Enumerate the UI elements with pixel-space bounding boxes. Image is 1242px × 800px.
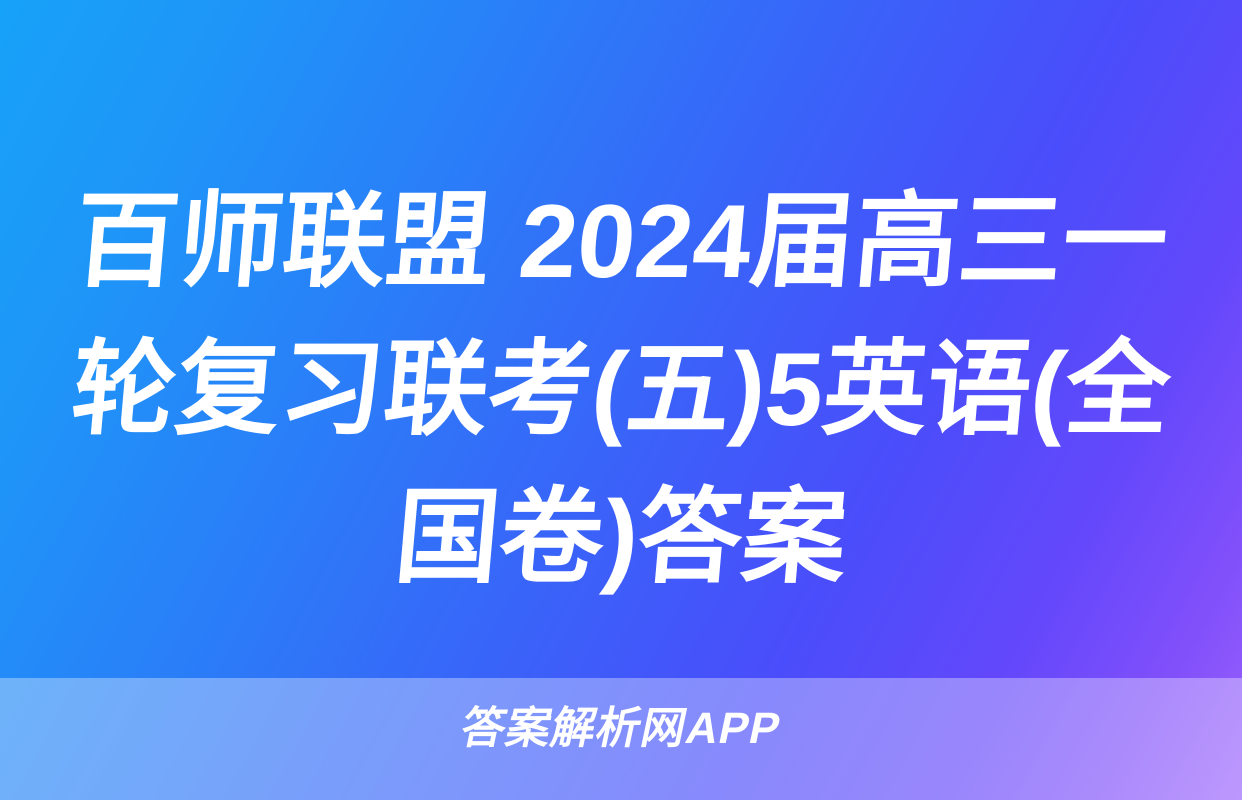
title-line-1: 百师联盟 2024届高三一 — [54, 168, 1189, 316]
title-line-3: 国卷)答案 — [54, 464, 1189, 612]
title-line-2: 轮复习联考(五)5英语(全 — [54, 316, 1189, 464]
answer-poster: 百师联盟 2024届高三一 轮复习联考(五)5英语(全 国卷)答案 答案解析网A… — [0, 0, 1242, 800]
page-title: 百师联盟 2024届高三一 轮复习联考(五)5英语(全 国卷)答案 — [0, 168, 1242, 612]
watermark-brand: 答案解析网APP — [0, 704, 1242, 754]
